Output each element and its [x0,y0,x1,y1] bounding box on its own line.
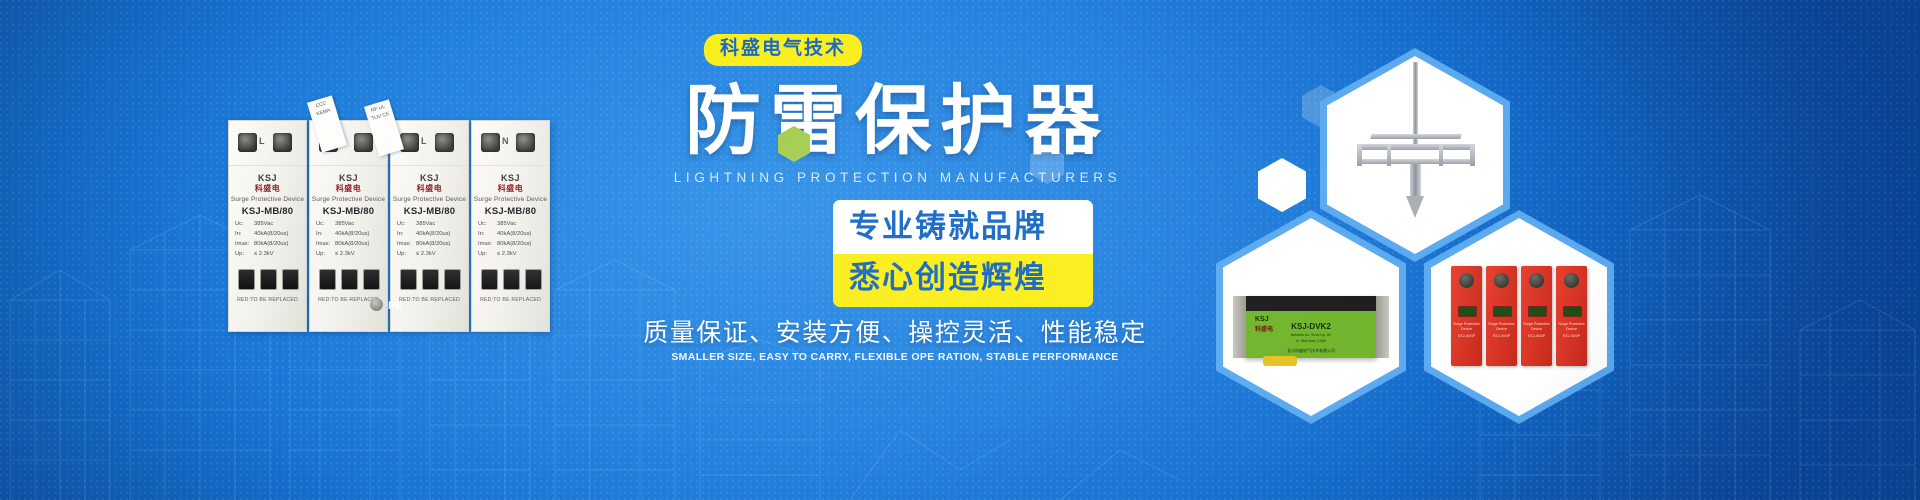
replace-warning-label: RED:TO BE REPLACED [229,297,306,303]
terminal-label: L [421,136,427,146]
device-top-strip [1245,296,1377,311]
lightning-rod-bracket [1439,144,1443,166]
red-spd-module: Surge Protective Device KSJ-40/4P [1556,266,1587,366]
status-window [1563,306,1582,317]
spec-line: Imax:80kA(8/20us) [316,241,369,247]
device-spec-line: Network Uc: 5Vdc Up: 8V [1245,333,1377,337]
replace-warning-label: RED:TO BE REPLACED [472,297,549,303]
device-cable [1263,356,1297,366]
terminal-screw-icon [1564,273,1579,288]
device-model-label: KSJ-40/4P [1451,334,1482,339]
terminal-screw-icon [1459,273,1474,288]
brand-logo: KSJ [391,173,468,183]
status-window [1458,306,1477,317]
status-window [1528,306,1547,317]
status-window [525,269,542,290]
hexagon-photo-lightning-rod [1327,56,1503,254]
spec-line: Uc:385Vac [235,221,273,227]
status-window [422,269,439,290]
red-spd-module: Surge Protective Device KSJ-40/4P [1486,266,1517,366]
device-model-label: KSJ-DVK2 [1245,322,1377,331]
lightning-rod-bracket [1357,144,1362,166]
device-type-label: Surge Protective Device [310,196,387,203]
spec-line: Uc:385Vac [478,221,516,227]
terminal-screw-icon [516,133,535,152]
hexagon-frame: Surge Protective Device KSJ-40/4P Surge … [1424,210,1614,424]
hexagon-photo-network-spd: KSJ 科盛电 KSJ-DVK2 Network Uc: 5Vdc Up: 8V… [1223,218,1399,416]
terminal-screw-icon [481,133,500,152]
status-window [1493,306,1512,317]
module-top-panel: N [472,121,549,166]
device-model-label: KSJ-MB/80 [472,206,549,217]
spd-module: L KSJ 科盛电 Surge Protective Device KSJ-MB… [228,120,307,332]
red-spd-group: Surge Protective Device KSJ-40/4P Surge … [1451,266,1587,366]
status-window [400,269,417,290]
product-hexagon-cluster: KSJ 科盛电 KSJ-DVK2 Network Uc: 5Vdc Up: 8V… [1020,40,1580,400]
terminal-label: N [502,136,509,146]
brand-badge: 科盛电气技术 [704,34,862,66]
spd-module-product-group: L KSJ 科盛电 Surge Protective Device KSJ-MB… [228,120,550,335]
hexagon-frame [1320,48,1510,262]
brand-logo-cn: 科盛电 [391,183,468,194]
terminal-screw-icon [273,133,292,152]
spec-line: In:40kA(8/20us) [316,231,369,237]
device-model-label: KSJ-40/4P [1521,334,1552,339]
lightning-rod-bracket [1470,144,1475,166]
device-type-label: Surge Protective Device [1451,322,1482,333]
network-spd-device: KSJ 科盛电 KSJ-DVK2 Network Uc: 5Vdc Up: 8V… [1245,296,1377,358]
status-window [444,269,461,290]
hexagon-decoration-icon [1258,158,1306,212]
device-spec-line: In: 5kA Imax: 10kA [1245,339,1377,343]
device-model-label: KSJ-40/4P [1486,334,1517,339]
hexagon-frame: KSJ 科盛电 KSJ-DVK2 Network Uc: 5Vdc Up: 8V… [1216,210,1406,424]
spec-line: Uc:385Vac [397,221,435,227]
spd-module: N KSJ 科盛电 Surge Protective Device KSJ-MB… [471,120,550,332]
lightning-rod-bracket [1370,134,1461,139]
lightning-rod-tip-icon [1406,196,1424,218]
brand-logo: KSJ [472,173,549,183]
spec-line: Uc:385Vac [316,221,354,227]
spec-line: In:40kA(8/20us) [397,231,450,237]
promo-banner: L KSJ 科盛电 Surge Protective Device KSJ-MB… [0,0,1920,500]
red-spd-module: Surge Protective Device KSJ-40/4P [1451,266,1482,366]
device-type-label: Surge Protective Device [1556,322,1587,333]
status-window [282,269,299,290]
spec-line: Up:≤ 2.3kV [478,251,517,257]
pe-terminal-icon [370,298,383,311]
spec-line: Up:≤ 2.3kV [316,251,355,257]
terminal-screw-icon [435,133,454,152]
spec-line: Imax:80kA(8/20us) [397,241,450,247]
device-type-label: Surge Protective Device [1521,322,1552,333]
status-window [260,269,277,290]
device-model-label: KSJ-MB/80 [229,206,306,217]
device-type-label: Surge Protective Device [472,196,549,203]
device-type-label: Surge Protective Device [391,196,468,203]
brand-logo-cn: 科盛电 [472,183,549,194]
terminal-screw-icon [354,133,373,152]
pe-label: PE [388,300,403,312]
spec-line: Up:≤ 2.3kV [235,251,274,257]
spec-line: Imax:80kA(8/20us) [235,241,288,247]
terminal-screw-icon [1494,273,1509,288]
device-type-label: Surge Protective Device [229,196,306,203]
status-window [363,269,380,290]
brand-logo-cn: 科盛电 [310,183,387,194]
device-type-label: Surge Protective Device [1486,322,1517,333]
spec-line: Imax:80kA(8/20us) [478,241,531,247]
brand-logo-cn: 科盛电 [229,183,306,194]
terminal-label: L [259,136,265,146]
hexagon-decoration-icon [1030,145,1064,184]
hexagon-photo-red-spd: Surge Protective Device KSJ-40/4P Surge … [1431,218,1607,416]
lightning-rod-shaft [1410,164,1421,198]
spec-line: In:40kA(8/20us) [478,231,531,237]
device-model-label: KSJ-MB/80 [391,206,468,217]
status-window [481,269,498,290]
spec-line: Up:≤ 2.3kV [397,251,436,257]
status-window [238,269,255,290]
spec-line: In:40kA(8/20us) [235,231,288,237]
lightning-rod-bracket [1357,144,1475,150]
brand-logo: KSJ [229,173,306,183]
brand-logo: KSJ [310,173,387,183]
terminal-screw-icon [1529,273,1544,288]
device-model-label: KSJ-40/4P [1556,334,1587,339]
device-mounting-bracket [1233,296,1246,358]
device-company-label: 长沙科盛电气技术有限公司 [1245,348,1377,354]
lightning-rod-bracket [1387,144,1391,166]
terminal-screw-icon [238,133,257,152]
status-window [503,269,520,290]
device-mounting-bracket [1376,296,1389,358]
status-window [319,269,336,290]
red-spd-module: Surge Protective Device KSJ-40/4P [1521,266,1552,366]
device-model-label: KSJ-MB/80 [310,206,387,217]
status-window [341,269,358,290]
module-top-panel: L [229,121,306,166]
